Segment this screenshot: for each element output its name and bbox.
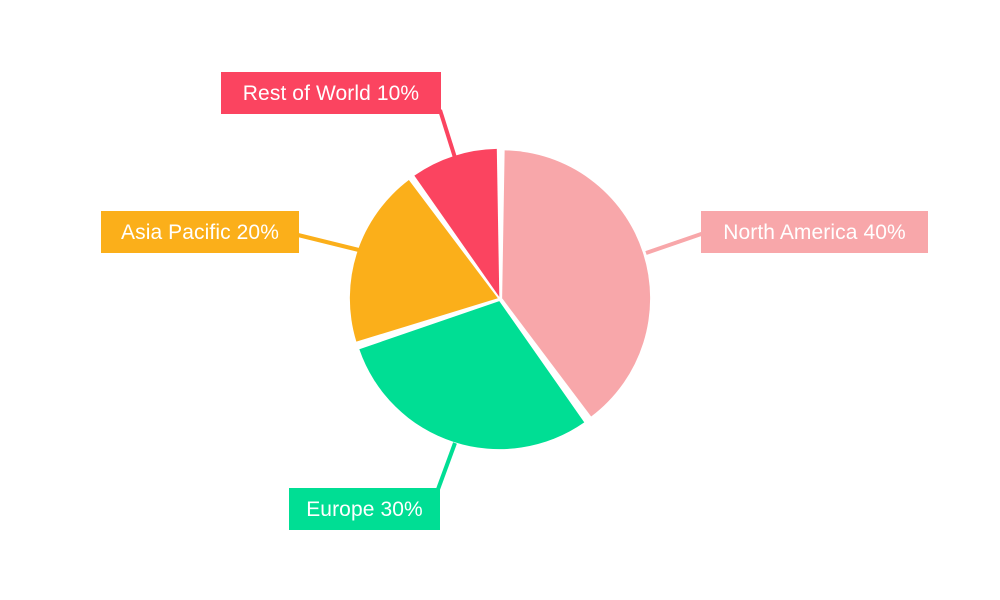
leader-line-north-america (646, 232, 707, 253)
pie-chart-figure: North America 40% Europe 30% Asia Pacifi… (0, 0, 1000, 600)
pie-label-asia-pacific[interactable]: Asia Pacific 20% (101, 211, 299, 253)
pie-label-rest-of-world[interactable]: Rest of World 10% (221, 72, 441, 114)
pie-label-north-america[interactable]: North America 40% (701, 211, 928, 253)
pie-chart-canvas (0, 0, 1000, 600)
pie-wedges (350, 149, 650, 449)
pie-label-asia-pacific-text: Asia Pacific 20% (121, 222, 279, 243)
pie-label-rest-of-world-text: Rest of World 10% (243, 83, 419, 104)
leader-line-europe (437, 443, 455, 492)
pie-label-europe-text: Europe 30% (306, 499, 423, 520)
pie-label-north-america-text: North America 40% (723, 222, 906, 243)
pie-label-europe[interactable]: Europe 30% (289, 488, 440, 530)
